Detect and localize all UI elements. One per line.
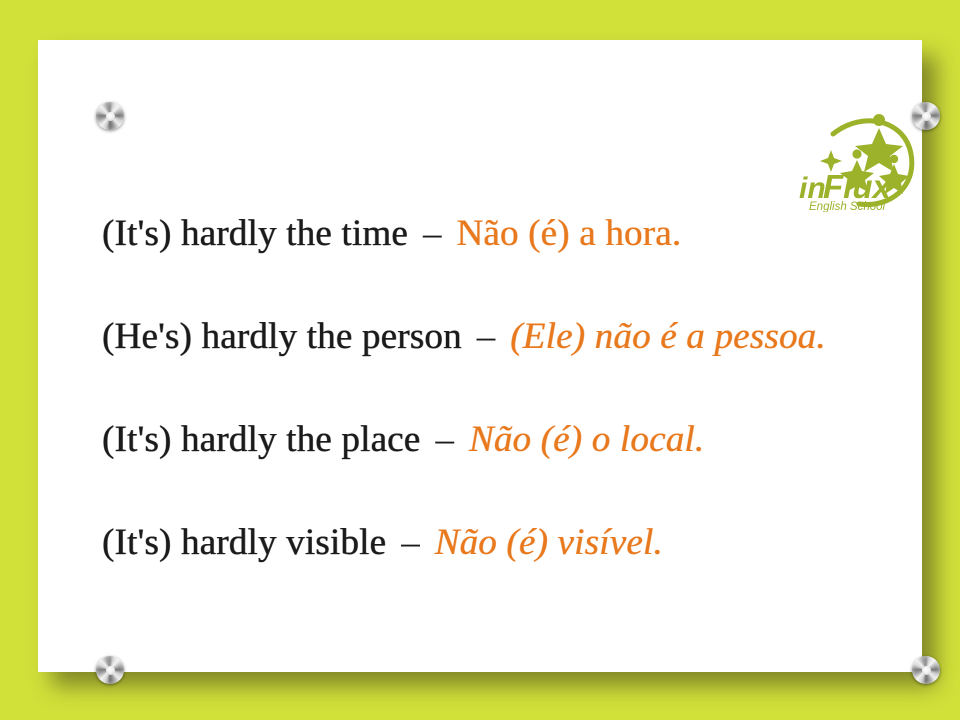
screw-bottom-right-icon <box>912 656 940 684</box>
phrase-row-1: (It's) hardly the time – Não (é) a hora. <box>102 212 912 315</box>
separator-dash-1: – <box>417 212 448 256</box>
separator-dash-2: – <box>471 315 502 359</box>
separator-dash-3: – <box>429 418 460 462</box>
portuguese-phrase-4: Não (é) visível. <box>435 521 663 565</box>
screw-bottom-left-icon <box>96 656 124 684</box>
slide-canvas: in Flux English School (It's) hardly the… <box>0 0 960 720</box>
english-phrase-2: (He's) hardly the person <box>102 315 462 359</box>
portuguese-phrase-3: Não (é) o local. <box>469 418 704 462</box>
phrase-list: (It's) hardly the time – Não (é) a hora.… <box>102 212 912 624</box>
logo-tagline: English School <box>809 201 886 212</box>
english-phrase-4: (It's) hardly visible <box>102 521 386 565</box>
white-card: in Flux English School (It's) hardly the… <box>38 40 922 672</box>
english-phrase-1: (It's) hardly the time <box>102 212 408 256</box>
portuguese-phrase-2: (Ele) não é a pessoa. <box>510 315 826 359</box>
phrase-row-2: (He's) hardly the person – (Ele) não é a… <box>102 315 912 418</box>
separator-dash-4: – <box>395 521 426 565</box>
phrase-row-4: (It's) hardly visible – Não (é) visível. <box>102 521 912 624</box>
screw-top-left-icon <box>96 102 124 130</box>
phrase-row-3: (It's) hardly the place – Não (é) o loca… <box>102 418 912 521</box>
english-phrase-3: (It's) hardly the place <box>102 418 420 462</box>
influx-logo: in Flux English School <box>793 112 923 212</box>
logo-wordmark-suffix: Flux <box>823 168 892 205</box>
portuguese-phrase-1: Não (é) a hora. <box>456 212 681 256</box>
